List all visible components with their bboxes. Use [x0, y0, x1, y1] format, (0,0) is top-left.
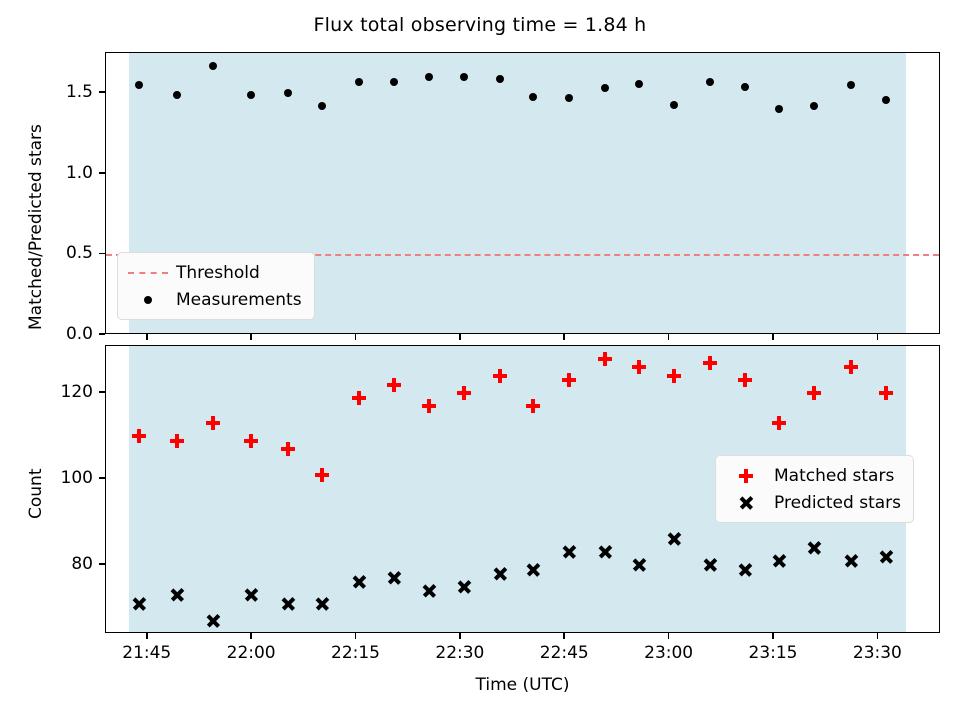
- legend-label-threshold: Threshold: [170, 263, 260, 283]
- x-tick-label: 22:00: [227, 643, 276, 663]
- y-tick-label: 1.5: [27, 82, 93, 102]
- dot-marker-key: [126, 290, 170, 310]
- data-point-matched-star: [525, 398, 541, 414]
- data-point-predicted-star: [597, 544, 613, 560]
- data-point-matched-star: [456, 385, 472, 401]
- x-tick-mark: [772, 334, 774, 340]
- y-tick-mark: [99, 172, 105, 174]
- data-point-predicted-star: [386, 570, 402, 586]
- data-point-measurement: [670, 101, 678, 109]
- data-point-measurement: [209, 62, 217, 70]
- legend-item-threshold[interactable]: Threshold: [126, 259, 302, 286]
- legend-label-matched-stars: Matched stars: [768, 466, 894, 486]
- data-point-matched-star: [702, 355, 718, 371]
- data-point-measurement: [355, 78, 363, 86]
- x-tick-mark: [355, 633, 357, 639]
- y-tick-mark: [99, 563, 105, 565]
- data-point-matched-star: [386, 377, 402, 393]
- data-point-predicted-star: [314, 596, 330, 612]
- x-tick-label: 21:45: [122, 643, 171, 663]
- x-tick-label: 23:30: [853, 643, 902, 663]
- data-point-matched-star: [280, 441, 296, 457]
- data-point-measurement: [706, 78, 714, 86]
- x-tick-mark: [563, 334, 565, 340]
- bottom-panel-y-axis-label: Count: [26, 469, 46, 520]
- legend-item-predicted-stars[interactable]: Predicted stars: [724, 489, 901, 516]
- y-tick-mark: [99, 91, 105, 93]
- bottom-panel-legend[interactable]: Matched stars Predicted stars: [715, 455, 914, 523]
- x-tick-mark: [877, 633, 879, 639]
- data-point-measurement: [635, 80, 643, 88]
- x-tick-mark: [355, 334, 357, 340]
- data-point-predicted-star: [771, 553, 787, 569]
- data-point-predicted-star: [878, 549, 894, 565]
- data-point-predicted-star: [421, 583, 437, 599]
- data-point-matched-star: [666, 368, 682, 384]
- data-point-predicted-star: [351, 574, 367, 590]
- x-tick-mark: [250, 334, 252, 340]
- dashed-line-key: [126, 263, 170, 283]
- data-point-matched-star: [806, 385, 822, 401]
- data-point-measurement: [496, 75, 504, 83]
- y-tick-mark: [99, 391, 105, 393]
- x-tick-mark: [459, 334, 461, 340]
- x-tick-mark: [668, 633, 670, 639]
- y-tick-label: 120: [27, 382, 93, 402]
- cross-marker-key: [724, 493, 768, 513]
- data-point-measurement: [565, 94, 573, 102]
- x-tick-mark: [563, 633, 565, 639]
- data-point-measurement: [318, 102, 326, 110]
- data-point-predicted-star: [492, 566, 508, 582]
- x-tick-label: 23:15: [749, 643, 798, 663]
- x-tick-mark: [146, 633, 148, 639]
- data-point-matched-star: [492, 368, 508, 384]
- x-tick-mark: [146, 334, 148, 340]
- data-point-matched-star: [878, 385, 894, 401]
- x-tick-mark: [772, 633, 774, 639]
- data-point-measurement: [135, 81, 143, 89]
- data-point-matched-star: [421, 398, 437, 414]
- x-tick-mark: [877, 334, 879, 340]
- y-tick-mark: [99, 253, 105, 255]
- data-point-matched-star: [169, 433, 185, 449]
- page-title: Flux total observing time = 1.84 h: [0, 14, 960, 36]
- data-point-matched-star: [314, 467, 330, 483]
- data-point-matched-star: [737, 372, 753, 388]
- top-panel-y-axis-label: Matched/Predicted stars: [26, 124, 46, 330]
- data-point-predicted-star: [131, 596, 147, 612]
- y-tick-mark: [99, 477, 105, 479]
- data-point-measurement: [847, 81, 855, 89]
- data-point-predicted-star: [702, 557, 718, 573]
- data-point-predicted-star: [456, 579, 472, 595]
- x-tick-label: 22:45: [540, 643, 589, 663]
- x-tick-label: 23:00: [644, 643, 693, 663]
- data-point-predicted-star: [525, 562, 541, 578]
- x-tick-label: 22:15: [331, 643, 380, 663]
- data-point-measurement: [173, 91, 181, 99]
- plus-marker-key: [724, 466, 768, 486]
- data-point-measurement: [741, 83, 749, 91]
- data-point-measurement: [425, 73, 433, 81]
- data-point-matched-star: [597, 351, 613, 367]
- data-point-predicted-star: [843, 553, 859, 569]
- x-tick-mark: [459, 633, 461, 639]
- x-tick-mark: [668, 334, 670, 340]
- data-point-matched-star: [843, 359, 859, 375]
- top-panel-legend[interactable]: Threshold Measurements: [117, 252, 315, 320]
- data-point-predicted-star: [666, 531, 682, 547]
- data-point-predicted-star: [280, 596, 296, 612]
- legend-item-measurements[interactable]: Measurements: [126, 286, 302, 313]
- data-point-predicted-star: [561, 544, 577, 560]
- legend-item-matched-stars[interactable]: Matched stars: [724, 462, 901, 489]
- data-point-predicted-star: [631, 557, 647, 573]
- y-tick-mark: [99, 333, 105, 335]
- data-point-predicted-star: [205, 613, 221, 629]
- data-point-predicted-star: [169, 587, 185, 603]
- figure-canvas: Flux total observing time = 1.84 h 0.00.…: [0, 0, 960, 720]
- x-axis-label: Time (UTC): [476, 675, 570, 695]
- data-point-matched-star: [243, 433, 259, 449]
- data-point-matched-star: [771, 415, 787, 431]
- legend-label-measurements: Measurements: [170, 290, 302, 310]
- legend-label-predicted-stars: Predicted stars: [768, 493, 901, 513]
- x-tick-mark: [250, 633, 252, 639]
- data-point-predicted-star: [806, 540, 822, 556]
- data-point-measurement: [390, 78, 398, 86]
- y-tick-label: 80: [27, 554, 93, 574]
- data-point-matched-star: [205, 415, 221, 431]
- data-point-measurement: [284, 89, 292, 97]
- data-point-matched-star: [351, 390, 367, 406]
- data-point-predicted-star: [737, 562, 753, 578]
- data-point-measurement: [529, 93, 537, 101]
- data-point-measurement: [882, 96, 890, 104]
- x-tick-label: 22:30: [435, 643, 484, 663]
- data-point-matched-star: [561, 372, 577, 388]
- data-point-predicted-star: [243, 587, 259, 603]
- data-point-matched-star: [131, 428, 147, 444]
- data-point-measurement: [247, 91, 255, 99]
- data-point-matched-star: [631, 359, 647, 375]
